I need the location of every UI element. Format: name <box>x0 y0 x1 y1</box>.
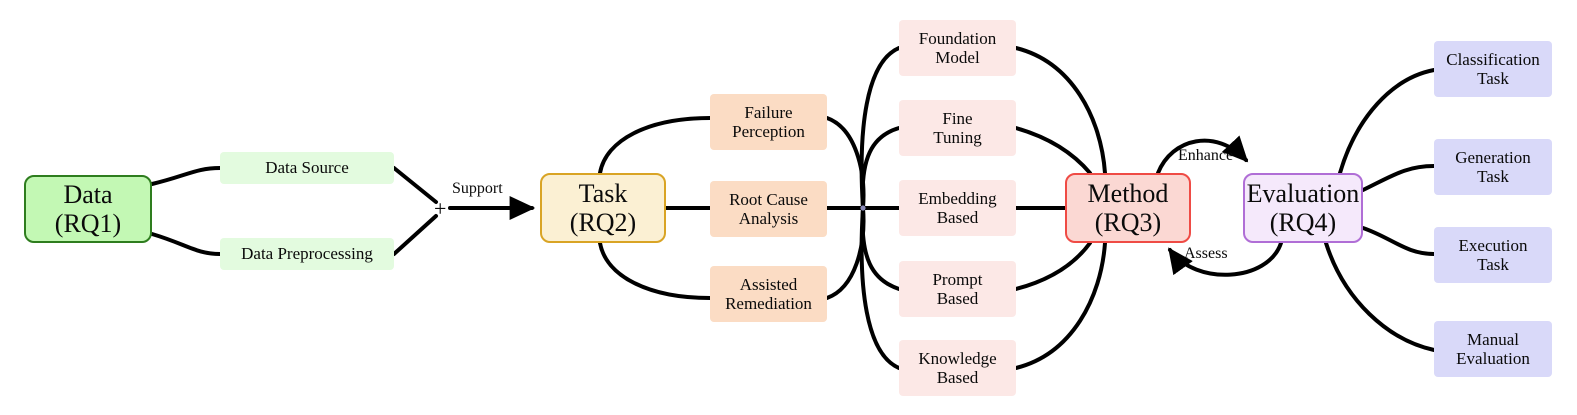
leaf-data-preprocessing[interactable]: Data Preprocessing <box>220 238 394 270</box>
edge-knowledge-based-to-method <box>1016 243 1105 368</box>
leaf-generation-task-label: Generation Task <box>1455 148 1531 186</box>
leaf-foundation-model[interactable]: Foundation Model <box>899 20 1016 76</box>
leaf-fine-tuning-label: Fine Tuning <box>933 109 982 147</box>
edge-evaluation-to-generation-task <box>1363 166 1434 190</box>
edge-merge-to-foundation-model <box>862 48 899 208</box>
leaf-root-cause-analysis-label: Root Cause Analysis <box>729 190 808 228</box>
node-method-rq3[interactable]: Method (RQ3) <box>1065 173 1191 243</box>
leaf-failure-perception-label: Failure Perception <box>732 103 805 141</box>
edge-task-to-assisted-remediation <box>600 243 710 298</box>
edge-evaluation-to-execution-task <box>1363 228 1434 254</box>
node-data-rq1-label: Data (RQ1) <box>55 180 121 238</box>
leaf-embedding-based-label: Embedding Based <box>918 189 996 227</box>
edge-evaluation-to-classification-task <box>1340 70 1434 173</box>
edge-foundation-model-to-method <box>1016 48 1105 173</box>
leaf-knowledge-based[interactable]: Knowledge Based <box>899 340 1016 396</box>
edge-data-source-to-plus <box>394 168 436 202</box>
edge-fine-tuning-to-method <box>1016 128 1090 173</box>
leaf-knowledge-based-label: Knowledge Based <box>918 349 996 387</box>
edge-data-to-data-preprocessing <box>152 234 220 254</box>
edge-assisted-remediation-to-merge <box>827 208 863 298</box>
edge-task-to-failure-perception <box>600 118 710 173</box>
edge-label-enhance: Enhance <box>1178 147 1233 165</box>
edge-evaluation-to-manual-evaluation <box>1326 243 1434 350</box>
leaf-data-preprocessing-label: Data Preprocessing <box>241 244 373 263</box>
leaf-generation-task[interactable]: Generation Task <box>1434 139 1552 195</box>
edge-data-preprocessing-to-plus <box>394 216 436 254</box>
node-method-rq3-label: Method (RQ3) <box>1088 179 1169 237</box>
leaf-assisted-remediation-label: Assisted Remediation <box>725 275 812 313</box>
node-task-rq2[interactable]: Task (RQ2) <box>540 173 666 243</box>
leaf-classification-task[interactable]: Classification Task <box>1434 41 1552 97</box>
edge-data-to-data-source <box>152 168 220 184</box>
leaf-data-source[interactable]: Data Source <box>220 152 394 184</box>
leaf-prompt-based[interactable]: Prompt Based <box>899 261 1016 317</box>
edge-merge-to-knowledge-based <box>862 208 899 368</box>
leaf-fine-tuning[interactable]: Fine Tuning <box>899 100 1016 156</box>
node-data-rq1[interactable]: Data (RQ1) <box>24 175 152 243</box>
leaf-root-cause-analysis[interactable]: Root Cause Analysis <box>710 181 827 237</box>
leaf-prompt-based-label: Prompt Based <box>932 270 982 308</box>
leaf-assisted-remediation[interactable]: Assisted Remediation <box>710 266 827 322</box>
leaf-foundation-model-label: Foundation Model <box>919 29 996 67</box>
leaf-execution-task-label: Execution Task <box>1459 236 1528 274</box>
merge-junction-node <box>860 205 865 210</box>
diagram-canvas: Data (RQ1) Task (RQ2) Method (RQ3) Evalu… <box>0 0 1577 415</box>
node-evaluation-rq4-label: Evaluation (RQ4) <box>1247 179 1360 237</box>
leaf-failure-perception[interactable]: Failure Perception <box>710 94 827 150</box>
leaf-classification-task-label: Classification Task <box>1446 50 1539 88</box>
leaf-manual-evaluation-label: Manual Evaluation <box>1456 330 1530 368</box>
edge-prompt-based-to-method <box>1016 243 1090 289</box>
edge-failure-perception-to-merge <box>827 118 863 208</box>
leaf-data-source-label: Data Source <box>265 158 349 177</box>
leaf-embedding-based[interactable]: Embedding Based <box>899 180 1016 236</box>
node-task-rq2-label: Task (RQ2) <box>570 179 636 237</box>
edge-label-assess: Assess <box>1184 245 1228 263</box>
leaf-execution-task[interactable]: Execution Task <box>1434 227 1552 283</box>
edge-label-support: Support <box>452 180 503 198</box>
node-evaluation-rq4[interactable]: Evaluation (RQ4) <box>1243 173 1363 243</box>
plus-operator: + <box>434 196 446 222</box>
leaf-manual-evaluation[interactable]: Manual Evaluation <box>1434 321 1552 377</box>
edge-merge-to-prompt-based <box>863 208 899 289</box>
edge-merge-to-fine-tuning <box>863 128 899 208</box>
